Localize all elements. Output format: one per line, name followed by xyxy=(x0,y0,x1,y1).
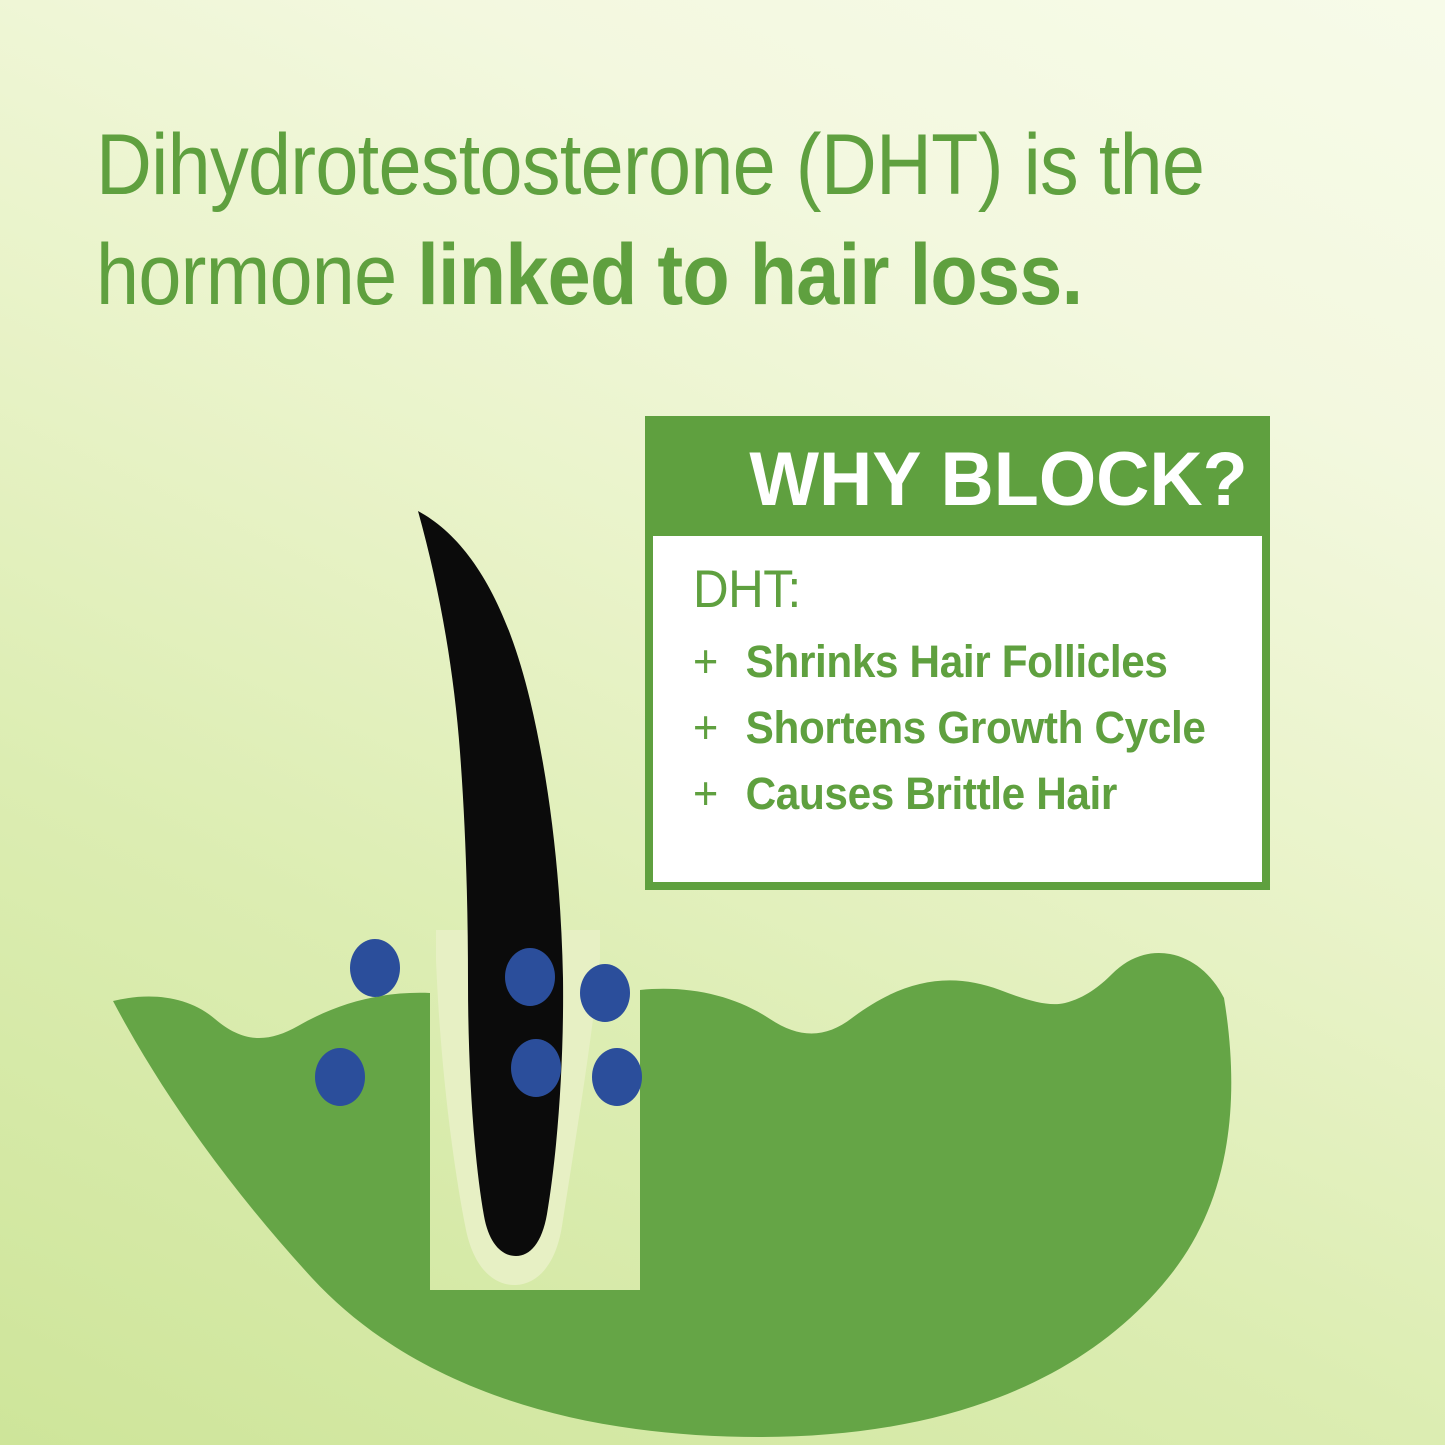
plus-icon: + xyxy=(693,704,746,750)
dht-subject-label: DHT: xyxy=(693,562,1202,618)
list-item: + Shrinks Hair Follicles xyxy=(693,638,1207,684)
hair-shaft xyxy=(418,511,563,1256)
plus-icon: + xyxy=(693,638,746,684)
card-body: DHT: + Shrinks Hair Follicles + Shortens… xyxy=(653,536,1262,882)
list-item-label: Causes Brittle Hair xyxy=(746,771,1117,816)
infographic-poster: Dihydrotestosterone (DHT) is the hormone… xyxy=(0,0,1445,1445)
list-item-label: Shortens Growth Cycle xyxy=(746,705,1206,750)
dht-molecule xyxy=(315,1048,365,1106)
dht-molecule xyxy=(350,939,400,997)
list-item: + Shortens Growth Cycle xyxy=(693,704,1207,750)
card-title: WHY BLOCK? xyxy=(750,442,1248,518)
dht-molecule xyxy=(592,1048,642,1106)
list-item-label: Shrinks Hair Follicles xyxy=(746,639,1168,684)
scalp-skin-shape xyxy=(113,953,1231,1437)
card-header: WHY BLOCK? xyxy=(653,424,1262,536)
list-item: + Causes Brittle Hair xyxy=(693,770,1207,816)
dht-molecule xyxy=(511,1039,561,1097)
plus-icon: + xyxy=(693,770,746,816)
why-block-card: WHY BLOCK? DHT: + Shrinks Hair Follicles… xyxy=(645,416,1270,890)
dht-molecule xyxy=(580,964,630,1022)
dht-molecule xyxy=(505,948,555,1006)
